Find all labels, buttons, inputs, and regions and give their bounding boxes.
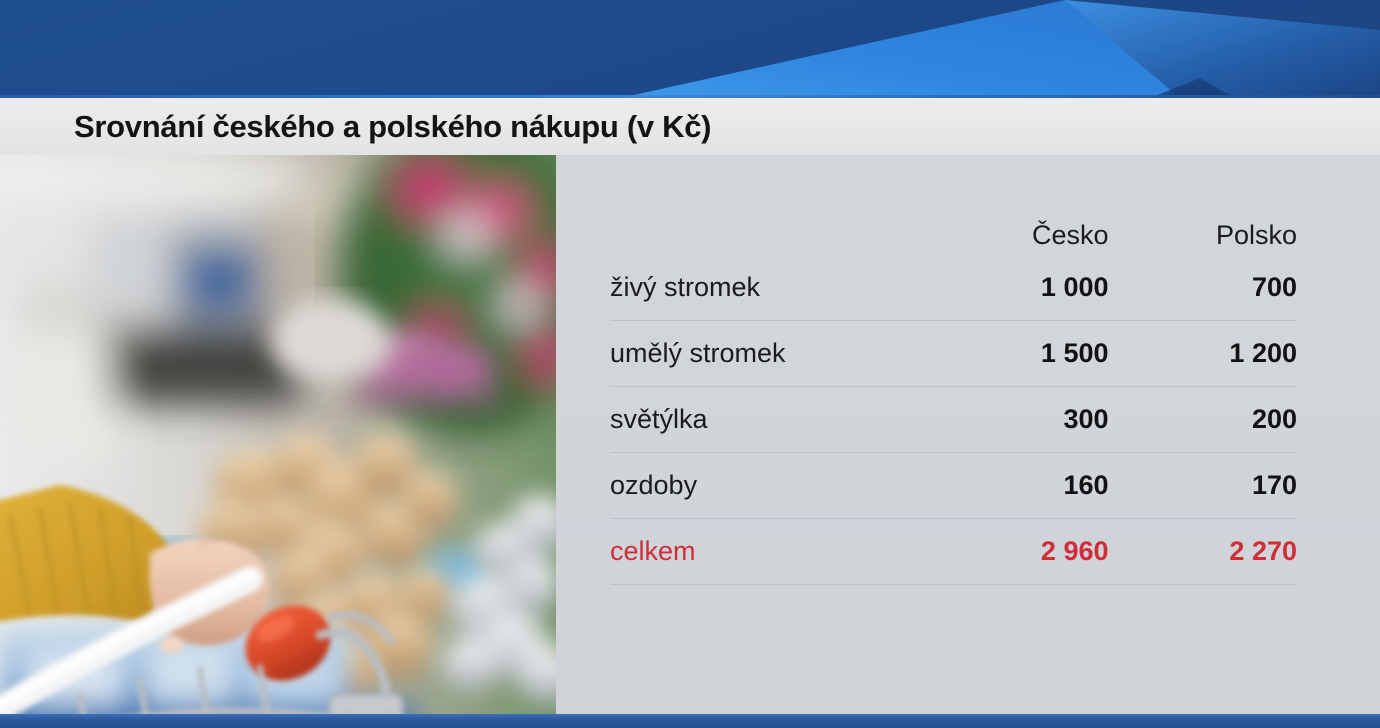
broadcast-graphic: Srovnání českého a polského nákupu (v Kč…	[0, 0, 1380, 728]
content-area: Česko Polsko živý stromek 1 000 700 uměl…	[0, 155, 1380, 714]
table-row: světýlka 300 200	[610, 387, 1297, 453]
total-value-cesko: 2 960	[920, 536, 1109, 567]
row-value-polsko: 700	[1109, 272, 1298, 303]
row-value-cesko: 160	[920, 470, 1109, 501]
title-bar: Srovnání českého a polského nákupu (v Kč…	[0, 98, 1380, 155]
shopping-photo	[0, 155, 556, 714]
page-title: Srovnání českého a polského nákupu (v Kč…	[74, 109, 711, 145]
table-row-total: celkem 2 960 2 270	[610, 519, 1297, 585]
comparison-table-panel: Česko Polsko živý stromek 1 000 700 uměl…	[556, 155, 1380, 714]
row-label-total: celkem	[610, 536, 920, 567]
row-label: umělý stromek	[610, 338, 920, 369]
row-value-cesko: 1 000	[920, 272, 1109, 303]
row-value-polsko: 200	[1109, 404, 1298, 435]
column-header-polsko: Polsko	[1109, 220, 1298, 251]
row-value-cesko: 1 500	[920, 338, 1109, 369]
column-header-cesko: Česko	[920, 220, 1109, 251]
row-label: živý stromek	[610, 272, 920, 303]
row-value-polsko: 1 200	[1109, 338, 1298, 369]
table-row: živý stromek 1 000 700	[610, 255, 1297, 321]
comparison-table: Česko Polsko živý stromek 1 000 700 uměl…	[610, 155, 1297, 585]
bottom-accent-strip	[0, 714, 1380, 728]
row-label: světýlka	[610, 404, 920, 435]
row-label: ozdoby	[610, 470, 920, 501]
table-row: ozdoby 160 170	[610, 453, 1297, 519]
row-value-cesko: 300	[920, 404, 1109, 435]
total-value-polsko: 2 270	[1109, 536, 1298, 567]
top-banner	[0, 0, 1380, 98]
row-value-polsko: 170	[1109, 470, 1298, 501]
table-header-row: Česko Polsko	[610, 155, 1297, 255]
banner-wedge-graphic	[0, 0, 1380, 98]
table-row: umělý stromek 1 500 1 200	[610, 321, 1297, 387]
